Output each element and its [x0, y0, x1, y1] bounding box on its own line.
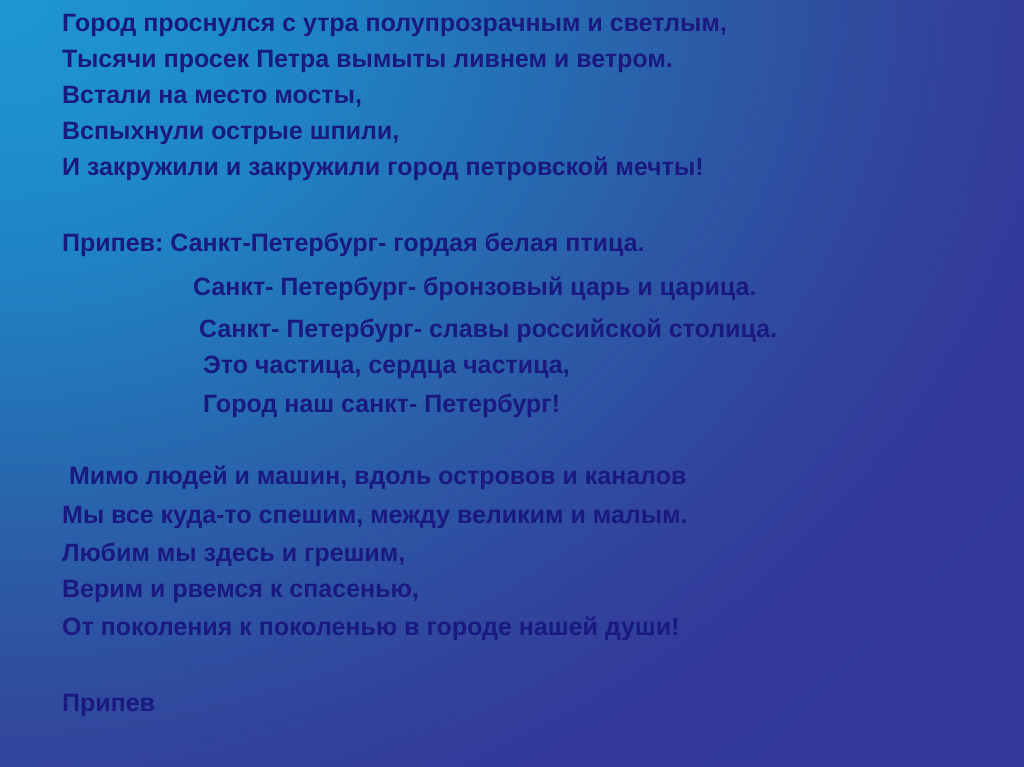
chorus-line: Санкт- Петербург- славы российской столи… [199, 314, 777, 344]
lyric-line: Любим мы здесь и грешим, [62, 538, 405, 568]
lyric-line: Тысячи просек Петра вымыты ливнем и ветр… [62, 44, 673, 74]
lyric-line: Мы все куда-то спешим, между великим и м… [62, 500, 688, 530]
lyric-line: И закружили и закружили город петровской… [62, 152, 704, 182]
slide-canvas: Город проснулся с утра полупрозрачным и … [0, 0, 1024, 767]
lyric-line: Вспыхнули острые шпили, [62, 116, 399, 146]
chorus-reference-label: Припев [62, 688, 155, 718]
chorus-line: Город наш санкт- Петербург! [203, 389, 560, 419]
lyric-line: От поколения к поколенью в городе нашей … [62, 612, 679, 642]
lyrics-text-block: Город проснулся с утра полупрозрачным и … [0, 0, 1024, 767]
chorus-line: Припев: Санкт-Петербург- гордая белая пт… [62, 228, 645, 258]
lyric-line: Встали на место мосты, [62, 80, 362, 110]
lyric-line: Мимо людей и машин, вдоль островов и кан… [62, 461, 686, 491]
chorus-line: Санкт- Петербург- бронзовый царь и цариц… [193, 272, 756, 302]
lyric-line: Город проснулся с утра полупрозрачным и … [62, 8, 727, 38]
lyric-line: Верим и рвемся к спасенью, [62, 574, 419, 604]
chorus-line: Это частица, сердца частица, [203, 350, 570, 380]
